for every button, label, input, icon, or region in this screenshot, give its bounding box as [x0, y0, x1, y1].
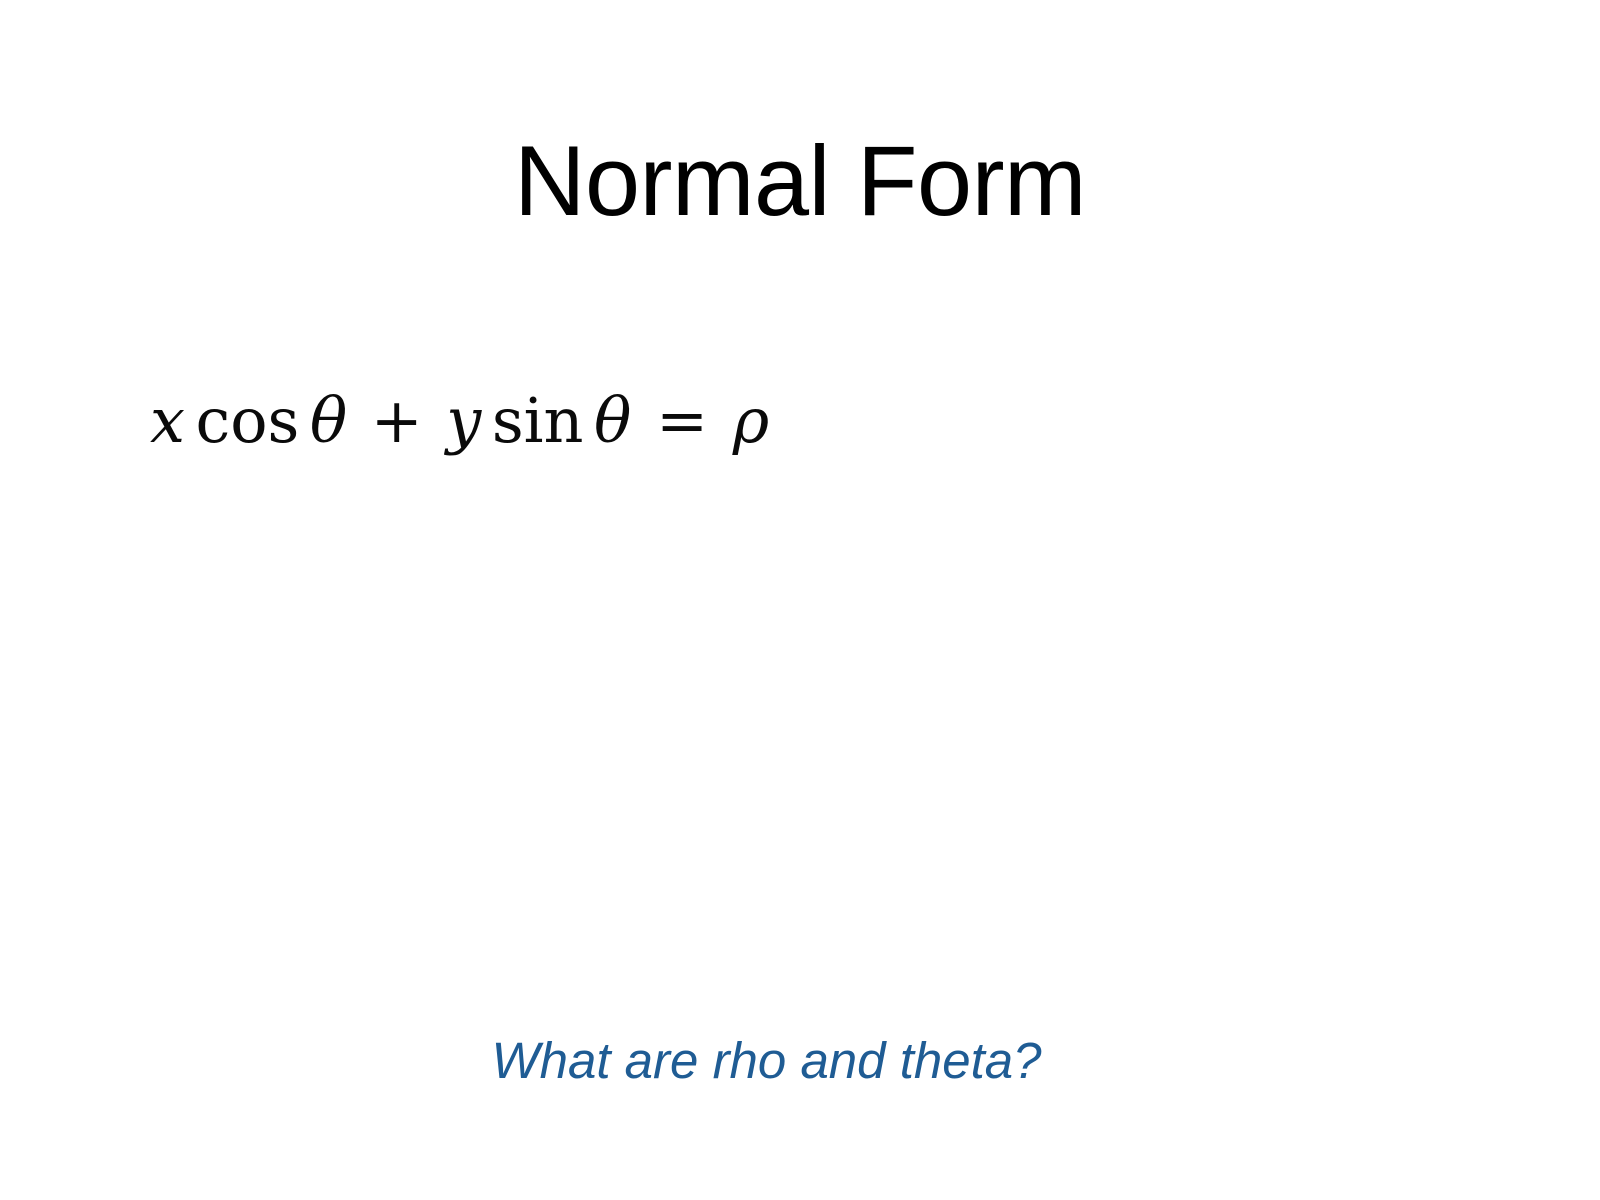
- prompt-question: What are rho and theta?: [0, 1032, 1533, 1091]
- equation-plus-operator: +: [363, 384, 430, 457]
- equation-function-cos: cos: [196, 384, 300, 457]
- equation-variable-y: y: [446, 384, 481, 457]
- slide-canvas: Normal Form xcosθ+ysinθ=ρ What are rho a…: [0, 0, 1600, 1200]
- equation-theta-first: θ: [310, 384, 347, 457]
- page-title: Normal Form: [0, 128, 1600, 235]
- equation-theta-second: θ: [594, 384, 631, 457]
- equation-equals-sign: =: [647, 384, 716, 457]
- equation-variable-x: x: [150, 384, 185, 457]
- normal-form-equation: xcosθ+ysinθ=ρ: [150, 386, 769, 455]
- equation-rho: ρ: [733, 384, 769, 457]
- equation-function-sin: sin: [492, 384, 584, 457]
